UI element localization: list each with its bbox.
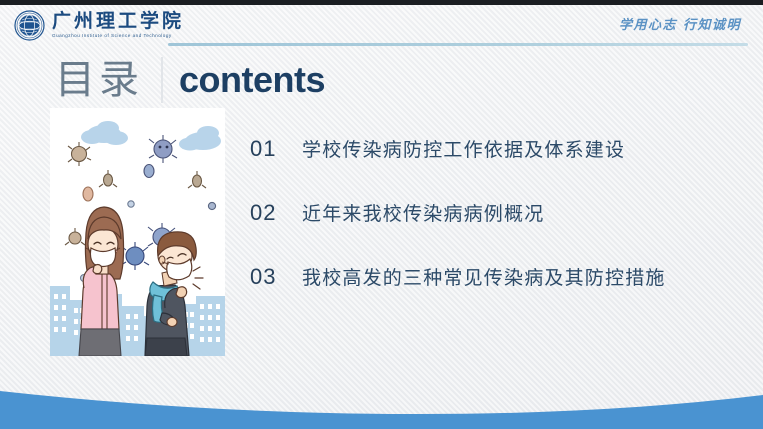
- page-title-cn: 目录: [55, 60, 143, 100]
- virus-particle: [128, 201, 134, 207]
- two-people-coughing-with-masks-illustration: [50, 108, 225, 356]
- university-seal-icon: [14, 10, 45, 41]
- university-name-cn: 广州理工学院: [52, 12, 184, 31]
- header-divider-rule: [168, 43, 748, 46]
- university-name-en: Guangzhou Institute of Science and Techn…: [52, 34, 184, 39]
- list-item[interactable]: 02 近年来我校传染病病例概况: [250, 199, 750, 263]
- page-title-en: contents: [179, 62, 325, 98]
- list-item-label: 近年来我校传染病病例概况: [302, 199, 544, 226]
- university-name-block: 广州理工学院 Guangzhou Institute of Science an…: [52, 12, 184, 39]
- bottom-wave-decoration: [0, 381, 763, 429]
- virus-particle: [83, 187, 93, 201]
- list-item-label: 学校传染病防控工作依据及体系建设: [302, 135, 625, 162]
- hand: [176, 287, 187, 298]
- title-divider: [161, 57, 163, 103]
- list-item-label: 我校高发的三种常见传染病及其防控措施: [302, 263, 666, 290]
- virus-particle: [144, 165, 154, 178]
- slide-header: 广州理工学院 Guangzhou Institute of Science an…: [0, 5, 763, 47]
- list-item[interactable]: 03 我校高发的三种常见传染病及其防控措施: [250, 263, 750, 327]
- list-item-number: 03: [250, 264, 302, 290]
- list-item[interactable]: 01 学校传染病防控工作依据及体系建设: [250, 135, 750, 199]
- university-motto: 学用心志 行知诚明: [619, 14, 741, 33]
- list-item-number: 02: [250, 200, 302, 226]
- contents-list: 01 学校传染病防控工作依据及体系建设 02 近年来我校传染病病例概况 03 我…: [250, 135, 750, 327]
- list-item-number: 01: [250, 136, 302, 162]
- hand: [93, 265, 102, 274]
- page-title: 目录 contents: [55, 52, 325, 108]
- university-logo: 广州理工学院 Guangzhou Institute of Science an…: [14, 10, 184, 41]
- virus-particle: [208, 202, 215, 209]
- hand: [167, 318, 177, 327]
- presentation-slide: 广州理工学院 Guangzhou Institute of Science an…: [0, 0, 763, 429]
